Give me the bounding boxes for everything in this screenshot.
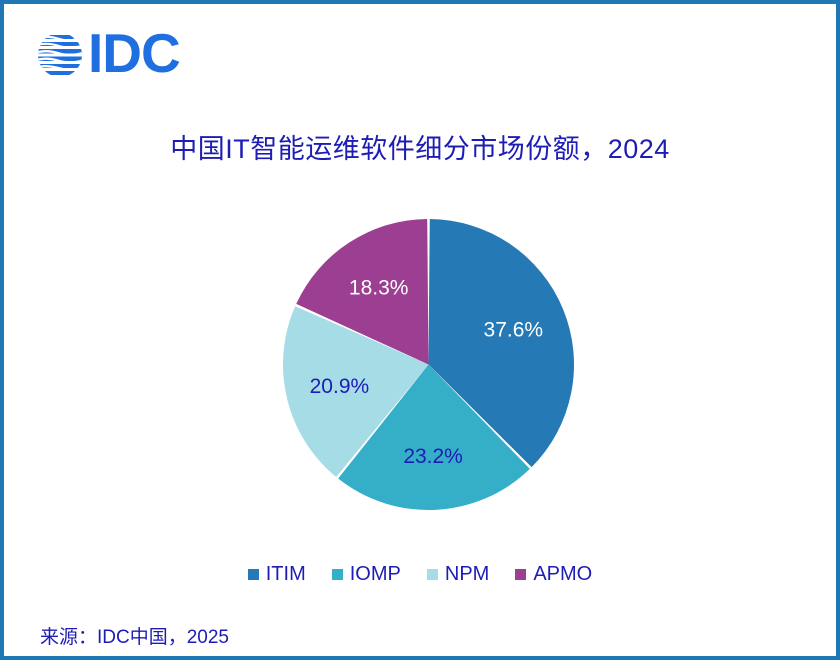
page-title: 中国IT智能运维软件细分市场份额，2024 xyxy=(4,127,836,166)
legend-label: ITIM xyxy=(266,564,306,584)
pie-chart: 37.6%23.2%20.9%18.3% xyxy=(281,217,576,512)
legend-swatch-icon xyxy=(515,569,526,580)
chart-legend: ITIMIOMPNPMAPMO xyxy=(4,564,836,584)
logo-wordmark: IDC xyxy=(88,26,180,85)
pie-slice-label-iomp: 23.2% xyxy=(403,445,463,468)
pie-slice-label-apmo: 18.3% xyxy=(349,277,409,300)
legend-item-apmo[interactable]: APMO xyxy=(515,564,592,584)
legend-item-itim[interactable]: ITIM xyxy=(248,564,306,584)
source-note: 来源：IDC中国，2025 xyxy=(40,622,229,649)
legend-label: NPM xyxy=(445,564,489,584)
globe-icon xyxy=(36,31,84,79)
pie-chart-svg: 37.6%23.2%20.9%18.3% xyxy=(281,217,576,512)
pie-slice-label-itim: 37.6% xyxy=(484,319,544,342)
idc-logo: IDC xyxy=(36,26,180,84)
legend-item-iomp[interactable]: IOMP xyxy=(332,564,401,584)
legend-label: APMO xyxy=(533,564,592,584)
legend-label: IOMP xyxy=(350,564,401,584)
legend-item-npm[interactable]: NPM xyxy=(427,564,489,584)
pie-slice-label-npm: 20.9% xyxy=(310,375,370,398)
chart-page: IDC 中国IT智能运维软件细分市场份额，2024 37.6%23.2%20.9… xyxy=(0,0,840,660)
legend-swatch-icon xyxy=(332,569,343,580)
legend-swatch-icon xyxy=(427,569,438,580)
legend-swatch-icon xyxy=(248,569,259,580)
